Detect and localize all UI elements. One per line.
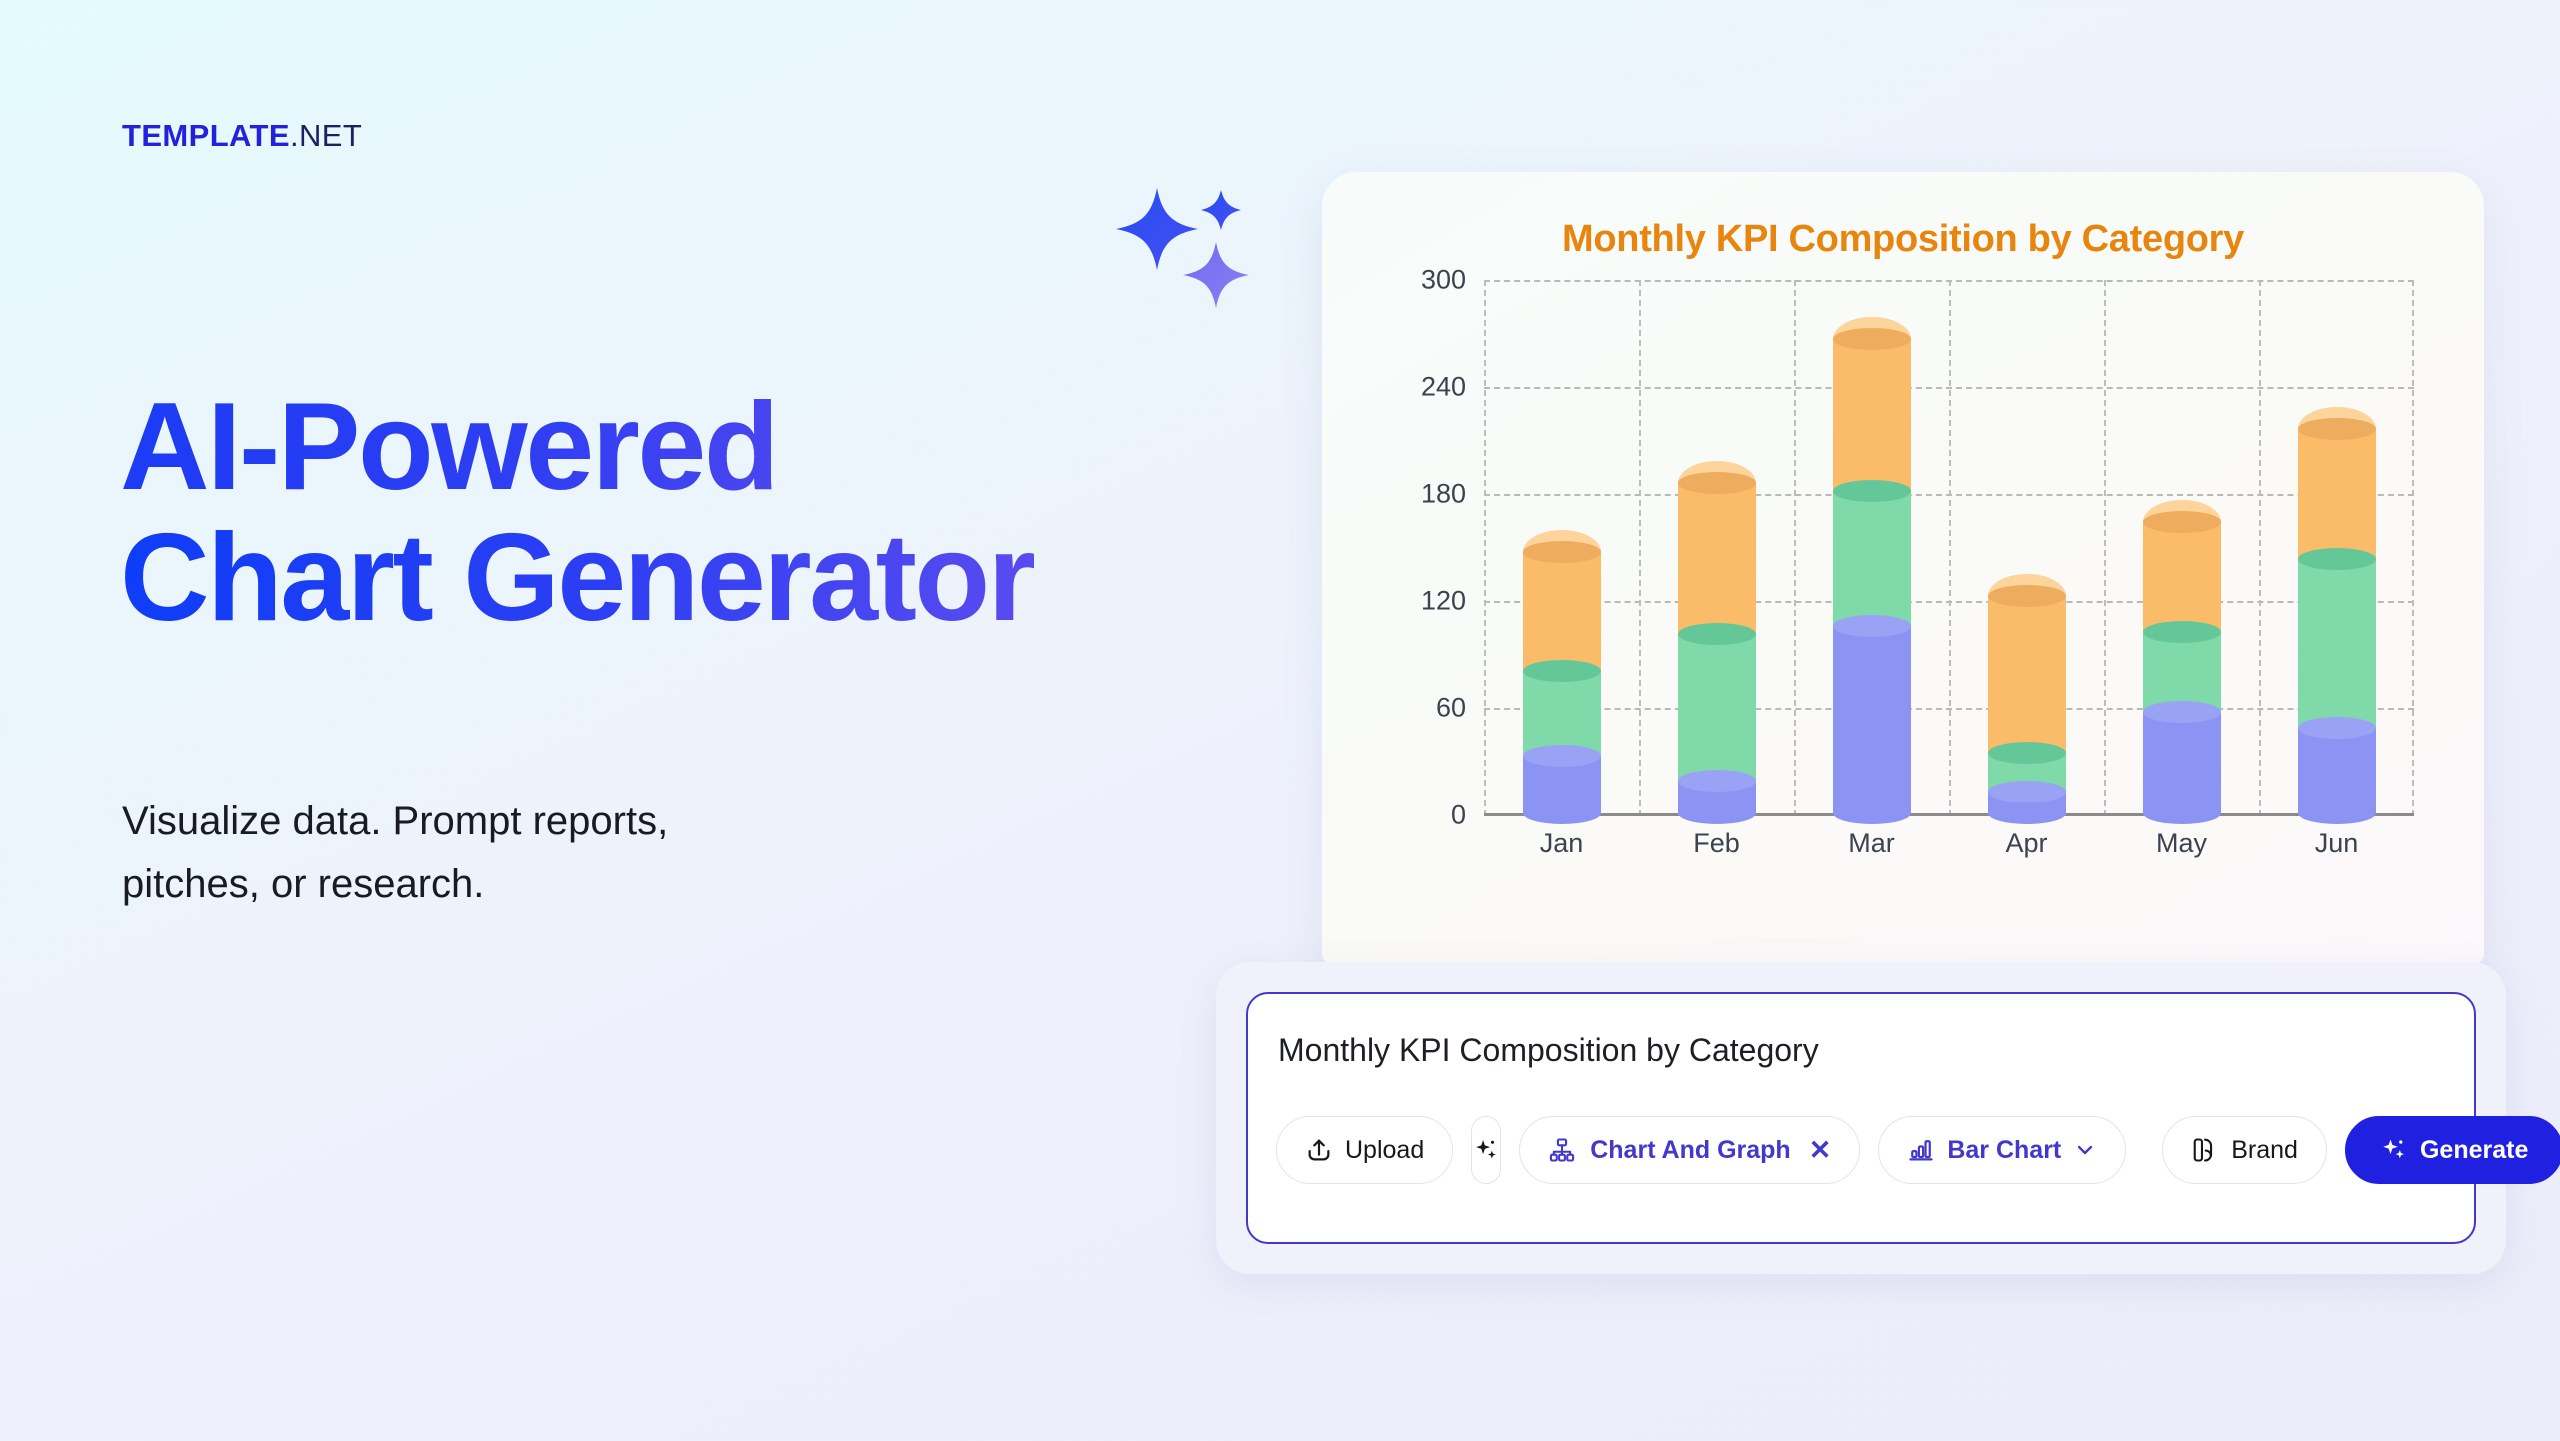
- x-tick-label: Feb: [1639, 828, 1794, 859]
- x-tick-label: May: [2104, 828, 2259, 859]
- chart-plot-area: 300 240 180 120 60 0: [1322, 280, 2484, 940]
- bar-segment: [2143, 522, 2221, 632]
- cylinder-bottom-cap: [2298, 802, 2376, 824]
- y-tick: 120: [1421, 586, 1466, 617]
- sparkles-icon: [2380, 1136, 2408, 1164]
- close-icon[interactable]: ✕: [1809, 1135, 1832, 1166]
- upload-icon: [1305, 1136, 1333, 1164]
- bar-column[interactable]: [1484, 280, 1639, 813]
- x-axis-line: [1484, 813, 2414, 816]
- hierarchy-icon: [1548, 1136, 1576, 1164]
- headline-line-2: Chart Generator: [120, 513, 1300, 644]
- upload-button[interactable]: Upload: [1276, 1116, 1453, 1184]
- prompt-toolbar: Upload: [1276, 1112, 2452, 1188]
- plot-canvas: [1484, 280, 2414, 816]
- page-title: AI-Powered Chart Generator: [120, 382, 1300, 645]
- page-root: TEMPLATE.NET AI-Powered Chart Generator …: [0, 0, 2560, 1441]
- x-axis: JanFebMarAprMayJun: [1484, 828, 2414, 859]
- brand-logo-main: TEMPLATE: [122, 118, 290, 153]
- bar-segment: [1678, 634, 1756, 781]
- chart-preview-card: Monthly KPI Composition by Category 300 …: [1322, 172, 2484, 964]
- y-tick: 60: [1436, 693, 1466, 724]
- cylinder-bottom-cap: [1988, 802, 2066, 824]
- cylinder-bottom-cap: [1523, 802, 1601, 824]
- chart-and-graph-chip[interactable]: Chart And Graph ✕: [1519, 1116, 1860, 1184]
- bar-chart-icon: [1907, 1136, 1935, 1164]
- cylinder-bottom-cap: [1678, 802, 1756, 824]
- chart-type-label: Bar Chart: [1947, 1136, 2061, 1165]
- bar-segment: [1833, 491, 1911, 626]
- brand-logo[interactable]: TEMPLATE.NET: [122, 118, 362, 154]
- hero-subhead: Visualize data. Prompt reports, pitches,…: [122, 790, 742, 916]
- bar-series-group: [1484, 280, 2414, 813]
- prompt-card: Monthly KPI Composition by Category Uplo…: [1216, 962, 2506, 1274]
- chevron-down-icon: [2073, 1138, 2097, 1162]
- bar-segment: [1678, 483, 1756, 634]
- bar-segment: [2298, 728, 2376, 813]
- brand-button[interactable]: Brand: [2162, 1116, 2327, 1184]
- chip-label: Chart And Graph: [1590, 1136, 1790, 1165]
- sparkles-decoration-icon: [1110, 180, 1260, 310]
- headline-line-1: AI-Powered: [120, 382, 1300, 513]
- bar-segment: [2143, 632, 2221, 712]
- enhance-button[interactable]: [1471, 1116, 1501, 1184]
- chart-title: Monthly KPI Composition by Category: [1322, 218, 2484, 261]
- chart-type-select[interactable]: Bar Chart: [1878, 1116, 2126, 1184]
- bar-segment: [1523, 552, 1601, 671]
- x-tick-label: Jun: [2259, 828, 2414, 859]
- bar-column[interactable]: [2259, 280, 2414, 813]
- bar-segment: [2298, 429, 2376, 559]
- stacked-cylinder[interactable]: [2298, 429, 2376, 813]
- generate-button[interactable]: Generate: [2345, 1116, 2560, 1184]
- cylinder-bottom-cap: [1833, 802, 1911, 824]
- brand-label: Brand: [2231, 1136, 2298, 1165]
- sparkle-icon: [1472, 1136, 1500, 1164]
- stacked-cylinder[interactable]: [1833, 339, 1911, 813]
- bar-column[interactable]: [1794, 280, 1949, 813]
- stacked-cylinder[interactable]: [1523, 552, 1601, 813]
- generate-label: Generate: [2420, 1136, 2528, 1165]
- bar-segment: [1523, 671, 1601, 756]
- bar-segment: [2143, 712, 2221, 813]
- bar-segment: [1988, 596, 2066, 752]
- x-tick-label: Mar: [1794, 828, 1949, 859]
- upload-label: Upload: [1345, 1136, 1424, 1165]
- x-tick-label: Apr: [1949, 828, 2104, 859]
- stacked-cylinder[interactable]: [1678, 483, 1756, 813]
- y-tick: 300: [1421, 265, 1466, 296]
- bar-segment: [1833, 626, 1911, 813]
- stacked-cylinder[interactable]: [2143, 522, 2221, 813]
- stacked-cylinder[interactable]: [1988, 596, 2066, 813]
- bar-segment: [2298, 559, 2376, 728]
- bar-column[interactable]: [1949, 280, 2104, 813]
- cylinder-bottom-cap: [2143, 802, 2221, 824]
- palette-icon: [2191, 1136, 2219, 1164]
- y-tick: 0: [1451, 800, 1466, 831]
- brand-logo-tld: .NET: [290, 118, 362, 153]
- y-axis: 300 240 180 120 60 0: [1380, 280, 1466, 816]
- bar-column[interactable]: [2104, 280, 2259, 813]
- x-tick-label: Jan: [1484, 828, 1639, 859]
- bar-column[interactable]: [1639, 280, 1794, 813]
- y-tick: 240: [1421, 372, 1466, 403]
- y-tick: 180: [1421, 479, 1466, 510]
- prompt-input-box[interactable]: Monthly KPI Composition by Category Uplo…: [1246, 992, 2476, 1244]
- prompt-input[interactable]: Monthly KPI Composition by Category: [1278, 1032, 1819, 1069]
- bar-segment: [1833, 339, 1911, 492]
